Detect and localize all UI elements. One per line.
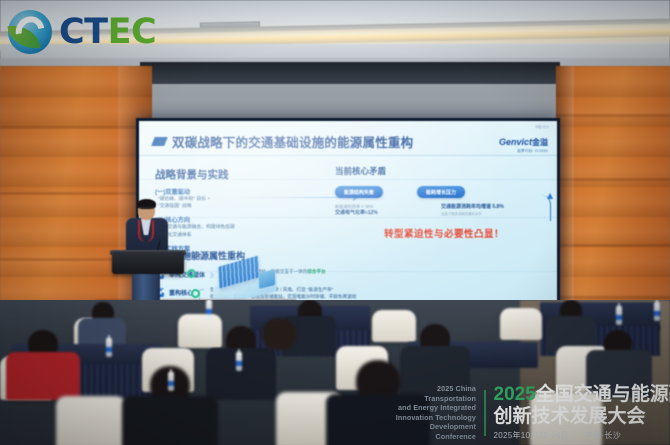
water-bottle [616, 306, 622, 325]
ctec-wordmark: CTEC [59, 15, 156, 50]
chair [500, 308, 542, 340]
pill-energy-structure: 能源结构失衡 [335, 186, 383, 198]
conference-line-2: 创新技术发展大会 [494, 406, 670, 427]
slide-title-row: 双碳战略下的交通基础设施的能源属性重构 [153, 132, 413, 151]
conference-line-1-text: 全国交通与能源融合 [536, 384, 670, 405]
conf-en-3: Innovation Technology [388, 413, 476, 423]
title-marker-icon [151, 137, 168, 146]
water-bottle [654, 302, 660, 321]
conference-date: 2025年10月22-24日 [494, 430, 569, 441]
conference-divider [484, 390, 486, 436]
water-bottle [236, 352, 242, 371]
chair [56, 396, 126, 445]
ctec-text-2: EC [108, 12, 157, 52]
slide-highlight: 转型紧迫性与必要性凸显！ [335, 226, 553, 240]
genvict-stock-code: 股票代码: 002869 [499, 150, 548, 154]
conference-year: 2025 [494, 384, 536, 405]
fact-2-main: 交通能源消耗年均增速 5.8% [441, 204, 529, 212]
wall-upper-dark-band [140, 62, 560, 84]
slide-divider [139, 155, 557, 156]
conf-en-2: and Energy Integrated [388, 403, 476, 413]
presenter-lanyard [138, 220, 154, 242]
fact-block-2: 交通能源消耗年均增速 5.8% 远高于相关消耗的增长水平 [441, 204, 529, 218]
ctec-text-1: CT [59, 12, 108, 52]
slide-corner-badge: 中国·长沙 [535, 124, 549, 129]
fact-2-sub: 远高于相关消耗的增长水平 [441, 212, 529, 217]
genvict-name: Genvict [499, 137, 532, 147]
conf-en-1: 2025 China Transportation [388, 384, 476, 403]
left-sub-1: (一)双重驱动 [155, 187, 327, 196]
pill-consumption-growth: 能耗增长压力 [417, 186, 465, 198]
solar-building-icon [209, 257, 287, 303]
fact-block-1: 新能源利用率 < 30% 交通电气化率≈12% [335, 204, 423, 218]
chair [372, 310, 416, 342]
conf-en-4: Development Conference [388, 422, 476, 441]
podium [112, 252, 184, 274]
right-heading: 当前核心矛盾 [335, 165, 553, 177]
gear-icon-2 [191, 289, 200, 298]
contradiction-pills: 能源结构失衡 能耗增长压力 [335, 186, 553, 198]
slide-title: 双碳战略下的交通基础设施的能源属性重构 [172, 132, 413, 151]
water-bottle [106, 338, 112, 357]
projection-screen: 中国·长沙 双碳战略下的交通基础设施的能源属性重构 Genvict金溢 股票代码… [136, 118, 560, 330]
water-bottle [206, 300, 212, 319]
glasses-icon [139, 207, 154, 210]
genvict-name-cn: 金溢 [532, 138, 548, 147]
conference-line-1: 2025全国交通与能源融合 [494, 384, 670, 405]
conference-location: 中国·长沙 [585, 430, 621, 441]
conference-chinese-title: 2025全国交通与能源融合 创新技术发展大会 2025年10月22-24日 中国… [494, 384, 670, 441]
conference-branding: 2025 China Transportation and Energy Int… [388, 384, 670, 441]
water-bottle [168, 372, 174, 391]
chair [178, 314, 222, 348]
ctec-globe-leaf-icon [8, 10, 52, 54]
genvict-logo: Genvict金溢 股票代码: 002869 [499, 133, 548, 154]
conference-photo: 中国·长沙 双碳战略下的交通基础设施的能源属性重构 Genvict金溢 股票代码… [0, 0, 670, 445]
slide-right-column: 当前核心矛盾 能源结构失衡 能耗增长压力 新能源利用率 < 30% 交通电气化率… [335, 165, 553, 240]
conference-english-title: 2025 China Transportation and Energy Int… [388, 384, 476, 441]
ctec-logo: CTEC [8, 10, 156, 54]
contradiction-facts: 新能源利用率 < 30% 交通电气化率≈12% 交通能源消耗年均增速 5.8% … [335, 204, 553, 218]
conference-meta: 2025年10月22-24日 中国·长沙 [494, 430, 670, 441]
